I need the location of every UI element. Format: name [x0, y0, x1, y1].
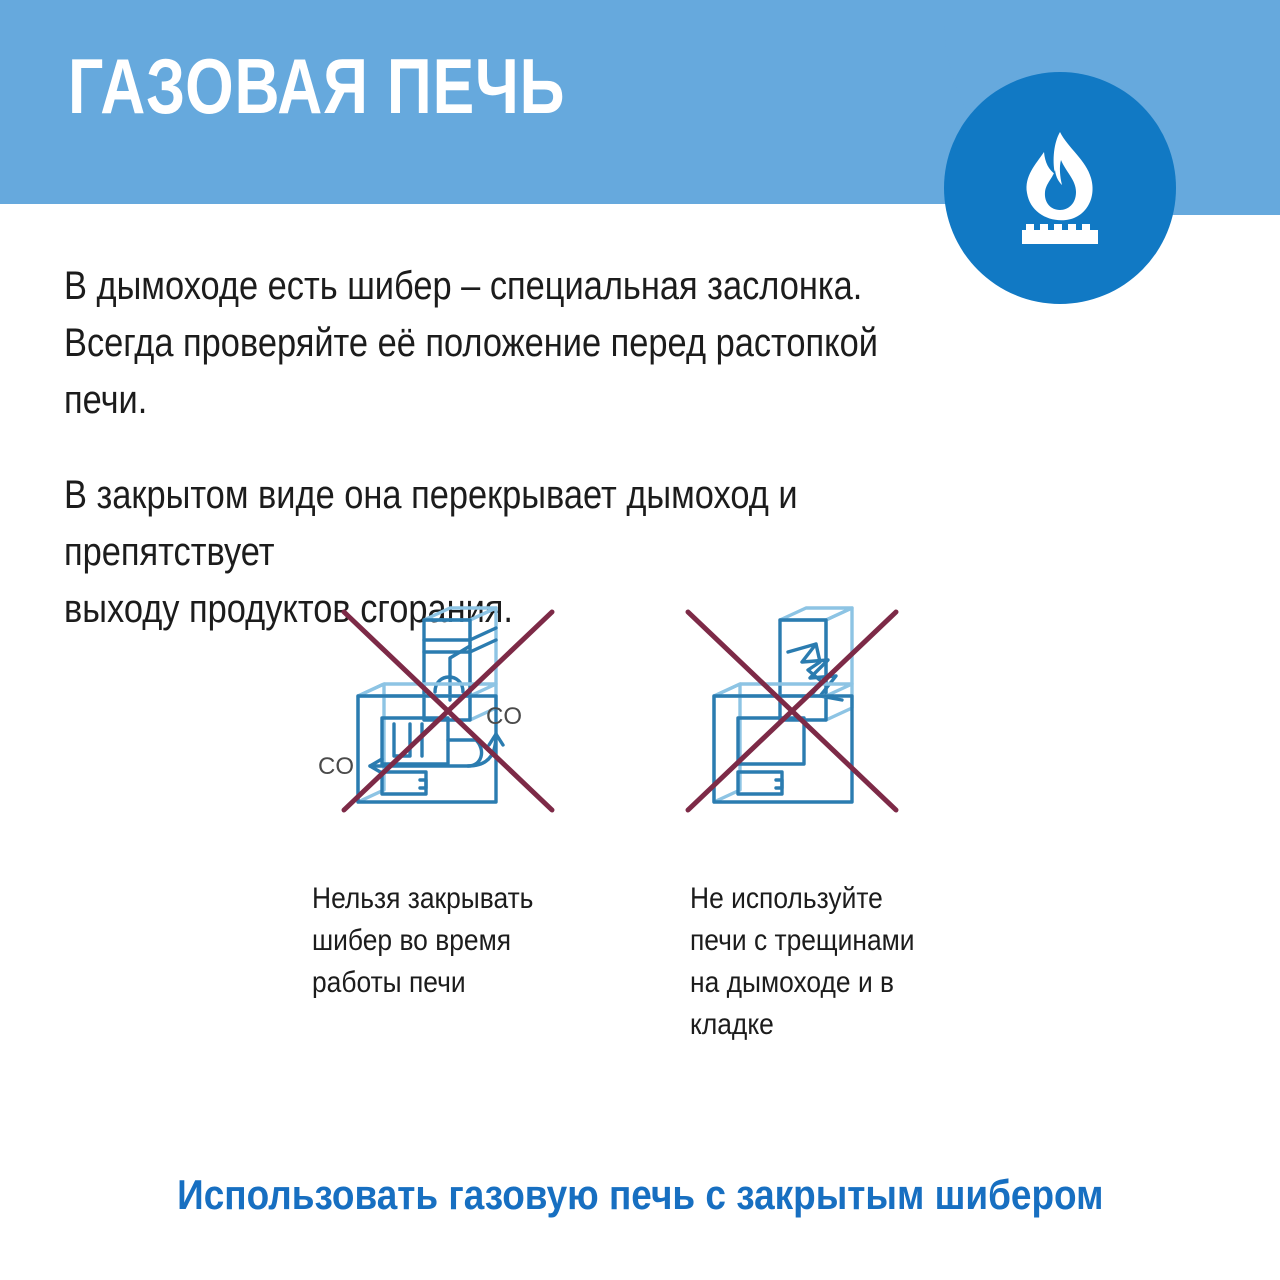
- co-label-left: CO: [318, 753, 354, 780]
- figure-caption: Не используйте печи с трещинами на дымох…: [690, 878, 963, 1046]
- stove-closed-damper-co-leak-icon: CO CO: [300, 600, 590, 830]
- infographic-poster: ГАЗОВАЯ ПЕЧЬ В дымоходе есть шибер – спе…: [0, 0, 1280, 1280]
- cross-mark-icon: [688, 612, 896, 810]
- stove-cracked-chimney-icon: [670, 600, 1000, 830]
- co-label-right: CO: [486, 703, 522, 730]
- figure-group: CO CO Нельзя закрывать шибер во время ра…: [0, 600, 1280, 1020]
- figure-cracked-chimney: Не используйте печи с трещинами на дымох…: [670, 600, 1000, 1046]
- body-paragraph-1: В дымоходе есть шибер – специальная засл…: [64, 258, 924, 429]
- figure-caption: Нельзя закрывать шибер во время работы п…: [312, 878, 557, 1004]
- gas-flame-burner-icon: [1008, 130, 1112, 246]
- figure-closed-damper: CO CO Нельзя закрывать шибер во время ра…: [300, 600, 590, 1004]
- body-copy: В дымоходе есть шибер – специальная засл…: [64, 258, 1064, 638]
- warning-banner: Использовать газовую печь с закрытым шиб…: [0, 1108, 1280, 1280]
- warning-line-1: Использовать газовую печь с закрытым шиб…: [177, 1166, 1103, 1224]
- page-title: ГАЗОВАЯ ПЕЧЬ: [68, 44, 565, 128]
